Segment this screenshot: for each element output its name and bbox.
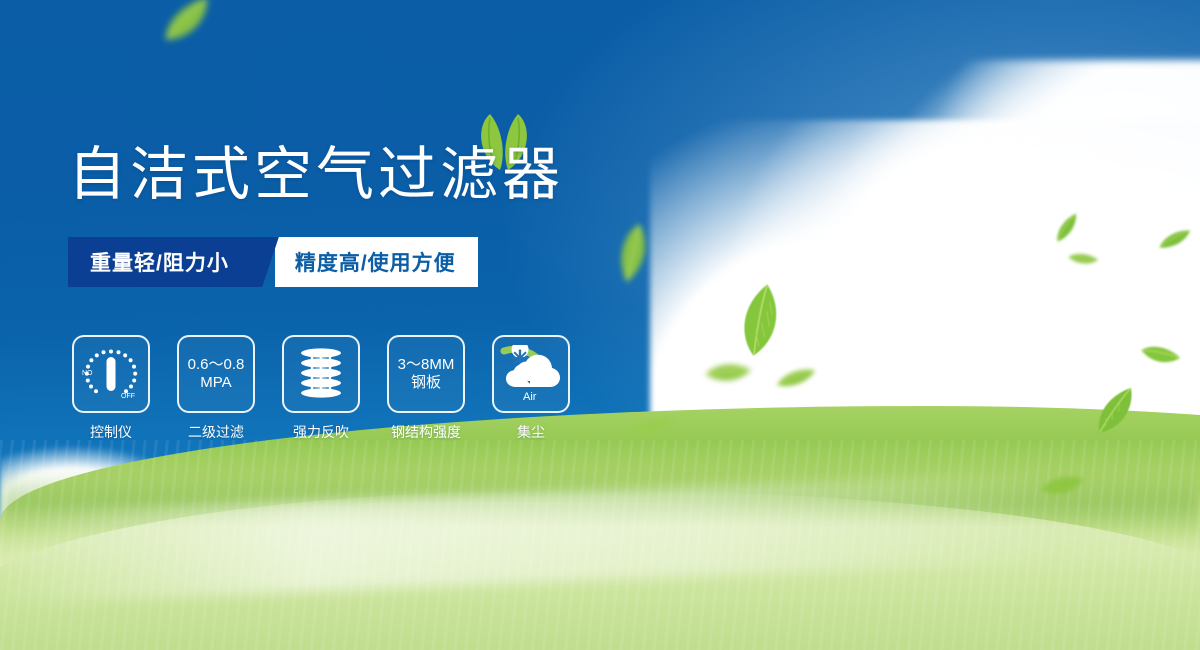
filter-stack-icon (282, 335, 360, 413)
steel-text-icon: 3～8MM 钢板 (387, 335, 465, 413)
gauge-icon: NO OFF (72, 335, 150, 413)
feature-label: 强力反吹 (293, 422, 349, 442)
leaf-icon (629, 413, 677, 442)
subtitle-right: 精度高/使用方便 (275, 237, 478, 287)
subtitle-bar: 重量轻/阻力小 精度高/使用方便 (68, 237, 478, 287)
feature-item-steel-strength[interactable]: 3～8MM 钢板 钢结构强度 (385, 335, 467, 442)
feature-label: 控制仪 (90, 422, 132, 442)
product-banner: 自洁式空气过滤器 重量轻/阻力小 精度高/使用方便 (0, 0, 1200, 650)
feature-label: 二级过滤 (188, 422, 244, 442)
steel-material: 钢板 (411, 374, 441, 392)
svg-text:OFF: OFF (121, 393, 135, 400)
pressure-text-icon: 0.6～0.8 MPA (177, 335, 255, 413)
feature-item-controller[interactable]: NO OFF 控制仪 (70, 335, 152, 442)
feature-label: 钢结构强度 (391, 422, 461, 442)
page-title: 自洁式空气过滤器 (68, 145, 564, 203)
pressure-unit: MPA (200, 374, 231, 392)
svg-text:NO: NO (82, 370, 93, 377)
subtitle-left: 重量轻/阻力小 (68, 237, 253, 287)
feature-label: 集尘 (517, 422, 545, 442)
steel-thickness: 3～8MM (398, 356, 455, 374)
feature-item-dust-collection[interactable]: Air 集尘 (490, 335, 572, 442)
feature-item-strong-blowback[interactable]: 强力反吹 (280, 335, 362, 442)
pressure-value: 0.6～0.8 (188, 356, 245, 374)
air-cloud-icon: Air (492, 335, 570, 413)
leaf-icon (152, 0, 223, 52)
svg-text:Air: Air (523, 391, 537, 403)
leaf-icon (1038, 467, 1086, 505)
feature-item-two-stage-filter[interactable]: 0.6～0.8 MPA 二级过滤 (175, 335, 257, 442)
feature-list: NO OFF 控制仪 0.6～0.8 MPA 二级过滤 (70, 335, 572, 442)
